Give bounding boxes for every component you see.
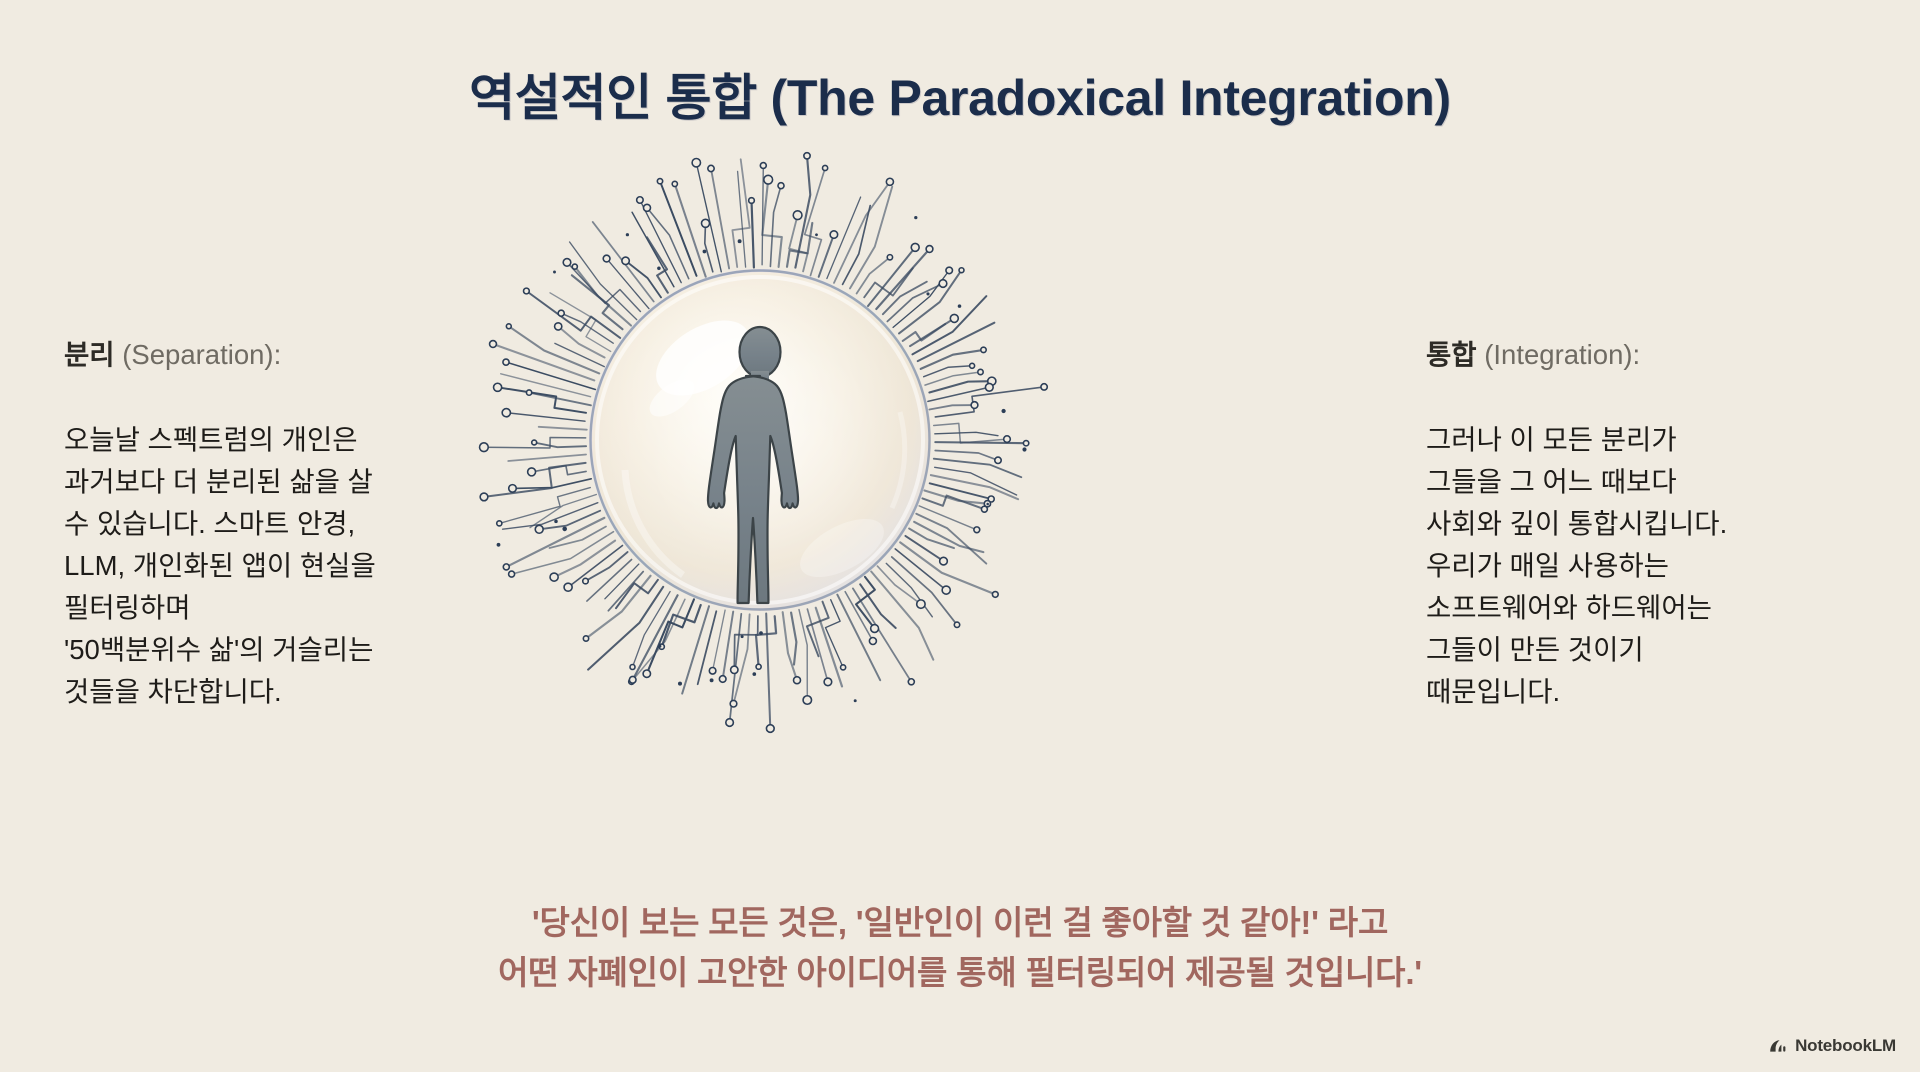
slide-canvas: 역설적인 통합 (The Paradoxical Integration) 분리… — [0, 0, 1920, 1072]
notebooklm-watermark: NotebookLM — [1768, 1036, 1896, 1056]
left-text-panel: 분리 (Separation): 오늘날 스펙트럼의 개인은 과거보다 더 분리… — [64, 250, 484, 755]
page-title: 역설적인 통합 (The Paradoxical Integration) — [0, 58, 1920, 130]
left-panel-body: 오늘날 스펙트럼의 개인은 과거보다 더 분리된 삶을 살 수 있습니다. 스마… — [64, 419, 484, 713]
notebooklm-logo-icon — [1768, 1037, 1788, 1055]
left-panel-heading-en: (Separation): — [115, 339, 282, 370]
notebooklm-label: NotebookLM — [1795, 1036, 1896, 1056]
right-panel-heading-kr: 통합 — [1426, 339, 1477, 370]
center-illustration — [460, 140, 1060, 740]
right-panel-heading: 통합 (Integration): — [1426, 292, 1866, 376]
left-panel-heading: 분리 (Separation): — [64, 292, 484, 376]
left-panel-heading-kr: 분리 — [64, 339, 115, 370]
footer-quote: '당신이 보는 모든 것은, '일반인이 이런 걸 좋아할 것 같아!' 라고 … — [0, 898, 1920, 998]
right-panel-heading-en: (Integration): — [1477, 339, 1641, 370]
right-panel-body: 그러나 이 모든 분리가 그들을 그 어느 때보다 사회와 깊이 통합시킵니다.… — [1426, 419, 1866, 713]
right-text-panel: 통합 (Integration): 그러나 이 모든 분리가 그들을 그 어느 … — [1426, 250, 1866, 755]
